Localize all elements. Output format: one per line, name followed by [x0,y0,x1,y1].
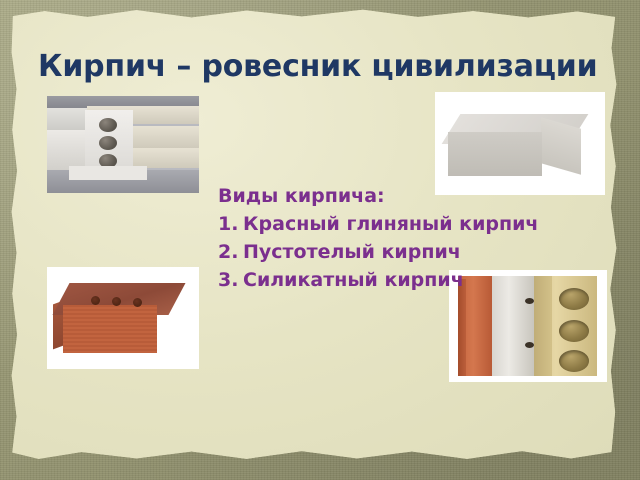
brick-front-face [63,305,157,353]
content-text-block: Виды кирпича: 1. Красный глиняный кирпич… [218,182,548,294]
brick-hole [559,320,589,342]
image-red-clay-brick: Красный глиняный кирпич с тремя отверсти… [47,267,199,369]
presentation-slide: Кирпич – ровесник цивилизации Серые сили… [0,0,640,480]
image-hollow-silicate-blocks: Серые силикатные блоки с тремя круглыми … [47,96,199,193]
brick-types-list: 1. Красный глиняный кирпич 2. Пустотелый… [218,210,548,294]
brick-hole [525,342,534,348]
block-shape [69,166,147,180]
image-alt-text: Красный глиняный кирпич с тремя отверсти… [47,267,48,268]
image-white-silicate-brick: Белый силикатный кирпич [435,92,605,195]
brick-front-face [448,132,542,176]
list-item-number: 2. [218,238,238,266]
block-hole [99,118,117,132]
brick-hole [559,288,589,310]
list-item-label: Силикатный кирпич [243,269,464,291]
list-item-label: Пустотелый кирпич [243,241,461,263]
page-title: Кирпич – ровесник цивилизации [38,50,613,85]
brick-hole [91,296,100,305]
brick-hole [525,298,534,304]
list-item-number: 1. [218,210,238,238]
list-item-number: 3. [218,266,238,294]
brick-hole [112,297,121,306]
list-item: 1. Красный глиняный кирпич [218,210,548,238]
block-hole [99,136,117,150]
image-alt-text: Белый силикатный кирпич [435,92,436,93]
list-item: 2. Пустотелый кирпич [218,238,548,266]
brick-hole [133,298,142,307]
brick-hole [559,350,589,372]
list-item-label: Красный глиняный кирпич [243,213,538,235]
list-item: 3. Силикатный кирпич [218,266,548,294]
list-heading: Виды кирпича: [218,182,548,210]
